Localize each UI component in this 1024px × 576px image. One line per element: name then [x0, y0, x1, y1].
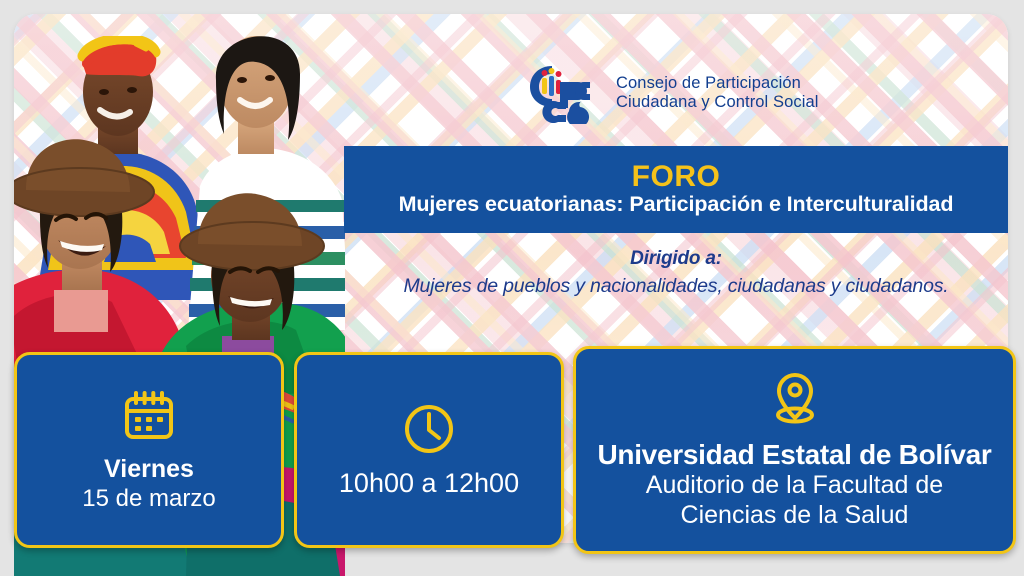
poster-canvas: Consejo de Participación Ciudadana y Con…: [0, 0, 1024, 576]
logo-organisation-name: Consejo de Participación Ciudadana y Con…: [616, 74, 819, 113]
clock-icon: [401, 401, 457, 462]
audience-block: Dirigido a: Mujeres de pueblos y naciona…: [344, 248, 1008, 298]
location-pin-icon: [766, 370, 824, 433]
event-type-label: FORO: [632, 162, 721, 192]
audience-lead-label: Dirigido a:: [344, 248, 1008, 270]
info-card-date: Viernes 15 de marzo: [14, 352, 284, 548]
cpccs-logo: Consejo de Participación Ciudadana y Con…: [528, 62, 819, 124]
calendar-icon: [121, 388, 177, 449]
info-card-time: 10h00 a 12h00: [294, 352, 564, 548]
date-value: 15 de marzo: [82, 485, 215, 513]
venue-detail: Auditorio de la Facultad de Ciencias de …: [646, 471, 943, 530]
event-title: Mujeres ecuatorianas: Participación e In…: [399, 193, 954, 217]
cpccs-logo-mark: [528, 62, 606, 124]
info-card-location: Universidad Estatal de Bolívar Auditorio…: [573, 346, 1016, 554]
event-banner: FORO Mujeres ecuatorianas: Participación…: [344, 146, 1008, 233]
time-range: 10h00 a 12h00: [339, 468, 519, 498]
audience-text: Mujeres de pueblos y nacionalidades, ciu…: [344, 275, 1008, 298]
date-day: Viernes: [104, 455, 194, 483]
venue-name: Universidad Estatal de Bolívar: [597, 439, 991, 470]
